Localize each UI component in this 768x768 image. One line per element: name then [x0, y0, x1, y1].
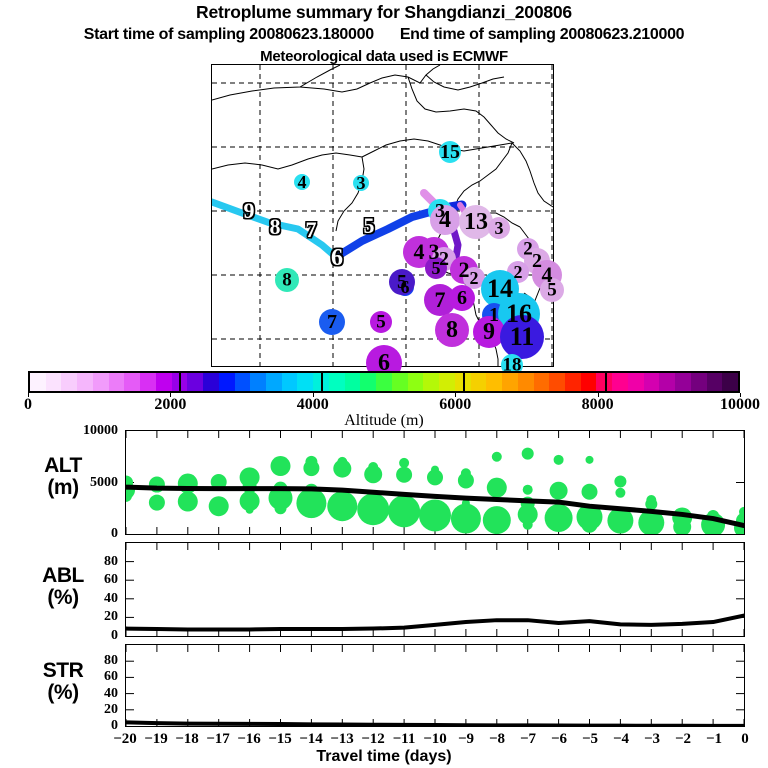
- colorbar-swatch: [282, 373, 298, 391]
- x-axis-tick-label: −20: [113, 731, 137, 748]
- altitude-bubble: [550, 482, 568, 500]
- colorbar-swatch: [297, 373, 313, 391]
- alt-plot: [126, 431, 744, 534]
- colorbar-divider: [179, 371, 181, 393]
- altitude-bubble: [545, 504, 573, 532]
- altitude-bubble: [357, 493, 389, 525]
- mean-line: [126, 616, 744, 630]
- x-axis-tick-label: −11: [393, 731, 416, 748]
- colorbar-swatch: [30, 373, 46, 391]
- x-axis-tick-label: −6: [551, 731, 567, 748]
- colorbar-swatch: [329, 373, 345, 391]
- y-axis-tick-label: 20: [58, 702, 118, 718]
- altitude-bubble: [303, 460, 319, 476]
- map-marker-label: 5: [397, 272, 407, 292]
- y-axis-tick-label: 80: [58, 554, 118, 570]
- colorbar-swatch: [565, 373, 581, 391]
- x-axis-tick-label: −5: [582, 731, 598, 748]
- map-marker-label: 15: [440, 142, 460, 162]
- alt-panel[interactable]: [125, 430, 745, 535]
- colorbar-swatch: [659, 373, 675, 391]
- colorbar-swatch: [612, 373, 628, 391]
- altitude-bubble: [364, 465, 382, 483]
- altitude-bubble: [427, 469, 443, 485]
- x-axis-tick-label: −2: [675, 731, 691, 748]
- trajectory-day-label: 7: [306, 219, 317, 241]
- map-marker-label: 8: [282, 271, 292, 290]
- x-axis-tick-label: −14: [299, 731, 323, 748]
- colorbar-swatch: [486, 373, 502, 391]
- colorbar-swatch: [93, 373, 109, 391]
- altitude-bubble: [645, 498, 657, 510]
- x-axis-tick-label: −17: [206, 731, 230, 748]
- map-marker-label: 11: [510, 324, 535, 350]
- x-axis-tick-label: 0: [741, 731, 749, 748]
- altitude-bubble: [522, 448, 534, 460]
- altitude-bubble: [582, 484, 598, 500]
- end-time-label: End time of sampling 20080623.210000: [400, 26, 684, 43]
- map-marker-label: 4: [439, 208, 451, 232]
- altitude-colorbar[interactable]: [28, 371, 740, 393]
- colorbar-swatch: [345, 373, 361, 391]
- abl-plot: [126, 543, 744, 636]
- map-marker-label: 2: [532, 251, 542, 271]
- trajectory-day-label: 9: [244, 200, 255, 222]
- met-data-label: Meteorological data used is ECMWF: [0, 48, 768, 65]
- colorbar-swatch: [392, 373, 408, 391]
- map-marker-label: 5: [376, 313, 386, 332]
- y-axis-tick-label: 20: [58, 609, 118, 625]
- map-marker-label: 2: [470, 269, 479, 287]
- altitude-bubble: [246, 506, 254, 514]
- x-axis-tick-label: −4: [613, 731, 629, 748]
- map-marker-label: 5: [432, 259, 441, 277]
- colorbar-swatch: [187, 373, 203, 391]
- y-axis-tick-label: 60: [58, 572, 118, 588]
- altitude-bubble: [149, 495, 165, 511]
- x-axis-title: Travel time (days): [0, 748, 768, 766]
- y-axis-tick-label: 0: [58, 526, 118, 542]
- abl-panel[interactable]: [125, 542, 745, 637]
- x-axis-tick-label: −13: [330, 731, 354, 748]
- colorbar-swatch: [691, 373, 707, 391]
- altitude-bubble: [333, 460, 351, 478]
- map-marker-label: 7: [327, 312, 337, 332]
- altitude-bubble: [396, 467, 412, 483]
- trajectory-day-label: 6: [331, 246, 343, 270]
- y-axis-tick-label: 10000: [58, 423, 118, 439]
- map-marker-label: 2: [439, 249, 449, 269]
- x-axis-tick-label: −16: [237, 731, 261, 748]
- x-axis-tick-label: −10: [423, 731, 447, 748]
- trajectory-day-label: 8: [270, 216, 281, 238]
- colorbar-swatch: [581, 373, 597, 391]
- map-marker-label: 4: [414, 241, 425, 263]
- altitude-bubble: [483, 506, 511, 534]
- y-axis-tick-label: 60: [58, 669, 118, 685]
- colorbar-swatch: [140, 373, 156, 391]
- colorbar-swatch: [46, 373, 62, 391]
- colorbar-swatch: [109, 373, 125, 391]
- altitude-bubble: [178, 492, 198, 512]
- colorbar-swatch: [722, 373, 738, 391]
- x-axis-tick-label: −12: [361, 731, 385, 748]
- map-marker-label: 2: [459, 259, 470, 281]
- map-marker-label: 9: [483, 320, 495, 344]
- colorbar-swatch: [502, 373, 518, 391]
- x-axis-tick-label: −18: [175, 731, 199, 748]
- altitude-bubble: [275, 502, 287, 514]
- map-marker-label: 3: [357, 174, 366, 192]
- colorbar-swatch: [376, 373, 392, 391]
- colorbar-swatch: [707, 373, 723, 391]
- page-title: Retroplume summary for Shangdianzi_20080…: [0, 2, 768, 23]
- altitude-bubble: [327, 491, 357, 521]
- altitude-bubble: [458, 472, 474, 488]
- altitude-bubble: [419, 499, 451, 531]
- x-axis-tick-label: −9: [458, 731, 474, 748]
- sampling-time-line: Start time of sampling 20080623.180000En…: [0, 26, 768, 44]
- trajectory-day-label: 5: [364, 215, 375, 237]
- map-marker-label: 5: [547, 281, 557, 300]
- colorbar-swatch: [408, 373, 424, 391]
- colorbar-swatch: [549, 373, 565, 391]
- altitude-bubble: [586, 456, 594, 464]
- altitude-bubble: [215, 507, 223, 515]
- map-marker-label: 6: [457, 288, 467, 308]
- x-axis-tick-label: −19: [144, 731, 168, 748]
- colorbar-swatch: [518, 373, 534, 391]
- x-axis-tick-label: −8: [489, 731, 505, 748]
- colorbar-divider: [321, 371, 323, 393]
- altitude-bubble: [388, 495, 420, 527]
- y-axis-tick-label: 5000: [58, 475, 118, 491]
- y-axis-tick-label: 80: [58, 653, 118, 669]
- y-axis-tick-label: 0: [58, 718, 118, 734]
- colorbar-swatch: [156, 373, 172, 391]
- altitude-bubble: [271, 456, 291, 476]
- colorbar-swatch: [250, 373, 266, 391]
- x-axis-tick-label: −3: [644, 731, 660, 748]
- altitude-bubble: [614, 475, 626, 487]
- start-time-label: Start time of sampling 20080623.180000: [84, 26, 374, 43]
- colorbar-swatch: [534, 373, 550, 391]
- altitude-bubble: [451, 504, 481, 534]
- colorbar-swatch: [235, 373, 251, 391]
- colorbar-swatch: [644, 373, 660, 391]
- map-marker-label: 3: [495, 219, 504, 237]
- colorbar-swatch: [77, 373, 93, 391]
- str-plot: [126, 645, 744, 726]
- retroplume-map[interactable]: 154386756341334322252242557614116891118 …: [211, 64, 554, 367]
- x-axis-tick-label: −1: [706, 731, 722, 748]
- map-marker-label: 2: [514, 263, 523, 281]
- colorbar-swatch: [439, 373, 455, 391]
- x-axis-tick-label: −7: [520, 731, 536, 748]
- altitude-bubble: [615, 488, 625, 498]
- map-marker-label: 7: [435, 289, 446, 311]
- colorbar-swatch: [219, 373, 235, 391]
- colorbar-swatch: [61, 373, 77, 391]
- colorbar-swatch: [628, 373, 644, 391]
- colorbar-swatch: [423, 373, 439, 391]
- map-marker-label: 13: [464, 210, 488, 234]
- altitude-bubble: [554, 455, 564, 465]
- altitude-bubble: [306, 507, 316, 517]
- colorbar-swatch: [360, 373, 376, 391]
- map-marker-label: 8: [446, 318, 458, 342]
- colorbar-divider: [463, 371, 465, 393]
- colorbar-swatch: [266, 373, 282, 391]
- altitude-bubble: [582, 517, 598, 533]
- altitude-bubble: [487, 478, 507, 498]
- colorbar-divider: [605, 371, 607, 393]
- x-axis-tick-label: −15: [268, 731, 292, 748]
- colorbar-swatch: [124, 373, 140, 391]
- colorbar-swatch: [471, 373, 487, 391]
- altitude-bubble: [492, 452, 502, 462]
- y-axis-tick-label: 0: [58, 628, 118, 644]
- altitude-bubble: [399, 458, 409, 468]
- colorbar-swatch: [675, 373, 691, 391]
- str-panel[interactable]: [125, 644, 745, 727]
- altitude-bubble: [523, 520, 533, 530]
- y-axis-tick-label: 40: [58, 591, 118, 607]
- map-marker-label: 4: [298, 173, 307, 191]
- colorbar-swatch: [203, 373, 219, 391]
- altitude-bubble: [523, 485, 533, 495]
- y-axis-tick-label: 40: [58, 686, 118, 702]
